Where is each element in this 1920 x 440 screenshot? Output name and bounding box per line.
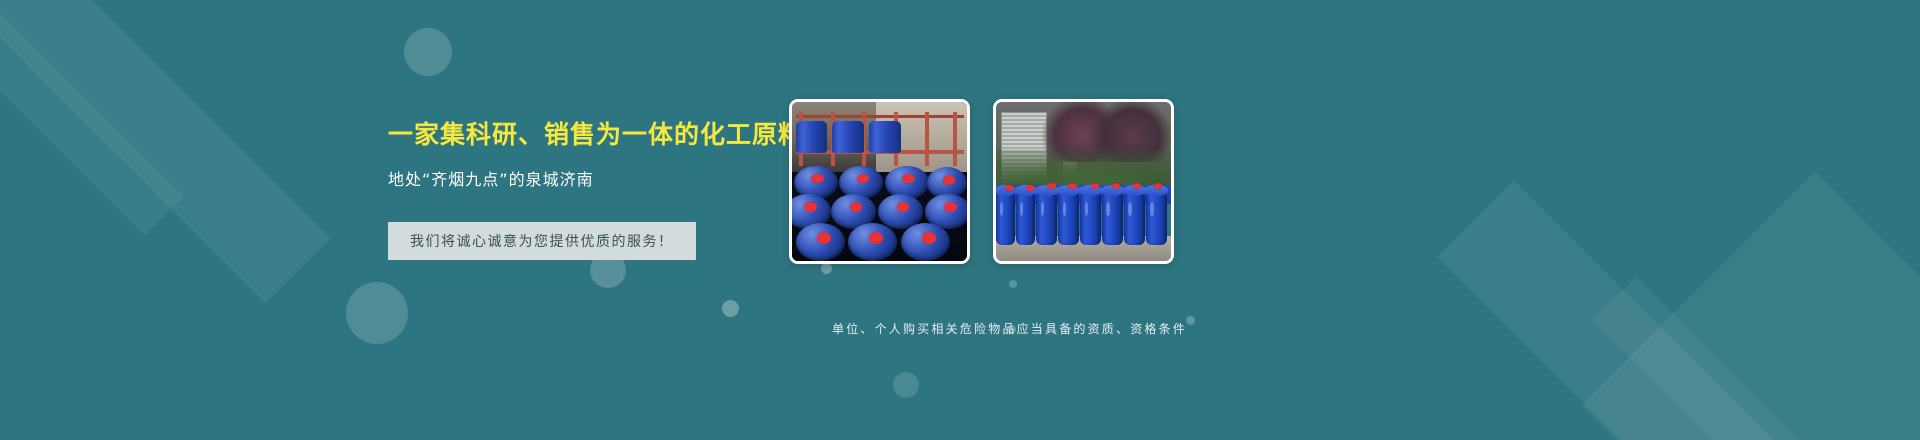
page-subtitle: 地处“齐烟九点”的泉城济南 (388, 166, 808, 190)
diagonal-stripe-decoration (0, 0, 331, 304)
blue-chemical-drums-outdoors-image (996, 102, 1171, 261)
page-title: 一家集科研、销售为一体的化工原料公司 (388, 120, 808, 150)
safety-notice-caption: 单位、个人购买相关危险物品应当具备的资质、资格条件 (832, 320, 1232, 337)
photo-card-drums-outdoors[interactable] (993, 99, 1174, 264)
diagonal-stripe-decoration (0, 0, 184, 236)
service-cta-button[interactable]: 我们将诚心诚意为您提供优质的服务！ (388, 222, 696, 260)
hero-banner: 一家集科研、销售为一体的化工原料公司 地处“齐烟九点”的泉城济南 我们将诚心诚意… (0, 0, 1920, 440)
photo-card-drums-on-rack[interactable] (789, 99, 970, 264)
circle-decoration (821, 263, 832, 274)
circle-decoration (404, 28, 452, 76)
circle-decoration (346, 282, 408, 344)
hero-text-block: 一家集科研、销售为一体的化工原料公司 地处“齐烟九点”的泉城济南 我们将诚心诚意… (388, 120, 808, 260)
circle-decoration (722, 300, 739, 317)
corner-wedge-decoration (1582, 172, 1920, 440)
circle-decoration (893, 372, 919, 398)
circle-decoration (1009, 280, 1017, 288)
blue-chemical-drums-on-rack-image (792, 102, 967, 261)
